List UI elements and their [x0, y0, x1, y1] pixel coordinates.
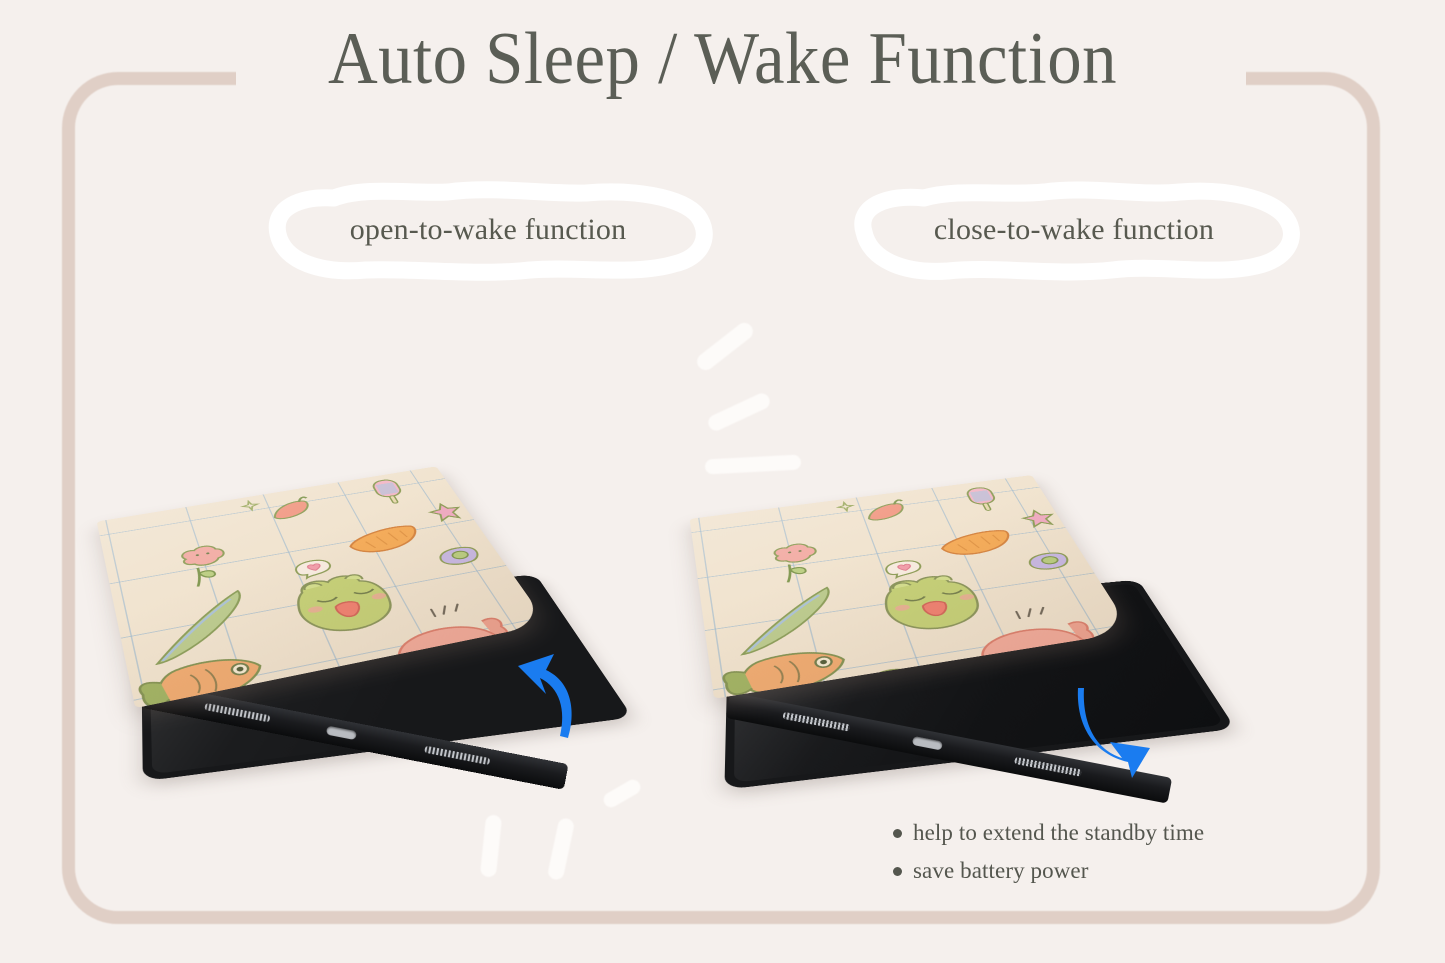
bullet-dot-icon [893, 867, 902, 876]
usb-c-port-icon [326, 726, 357, 741]
label-bubble-text: close-to-wake function [934, 213, 1214, 247]
page-title: Auto Sleep / Wake Function [51, 22, 1395, 96]
list-item: save battery power [893, 858, 1313, 884]
label-bubble-open-to-wake: open-to-wake function [262, 184, 714, 276]
usb-c-port-icon [912, 736, 943, 751]
speaker-grille-icon [204, 703, 270, 722]
tablet-open-to-wake [130, 330, 710, 790]
speaker-grille-icon [782, 712, 850, 732]
bullet-text: save battery power [913, 858, 1089, 884]
list-item: help to extend the standby time [893, 820, 1313, 846]
infographic-canvas: Auto Sleep / Wake Function open-to-wake … [0, 0, 1445, 963]
label-bubble-close-to-wake: close-to-wake function [848, 184, 1300, 276]
label-bubble-text: open-to-wake function [350, 213, 627, 247]
bullet-text: help to extend the standby time [913, 820, 1204, 846]
curved-arrow-up-icon [502, 648, 578, 740]
bullet-dot-icon [893, 829, 902, 838]
curved-arrow-down-icon [1076, 682, 1166, 782]
speaker-grille-icon [424, 746, 490, 765]
feature-bullet-list: help to extend the standby time save bat… [893, 820, 1313, 896]
tablet-close-to-wake [700, 330, 1340, 800]
speaker-grille-icon [1014, 757, 1082, 777]
